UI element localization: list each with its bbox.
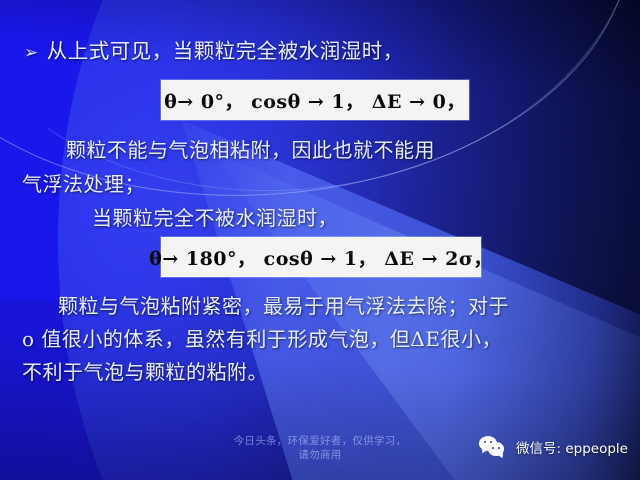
wechat-icon-dot-1 xyxy=(484,441,486,443)
formula-box-2: θ→ 180°， cosθ → 1， ΔE → 2σ， xyxy=(161,237,481,277)
body-line-7: 不利于气泡与颗粒的粘附。 xyxy=(22,356,268,385)
wechat-badge: 微信号: eppeople xyxy=(479,436,628,458)
formula-2-text: θ→ 180°， cosθ → 1， ΔE → 2σ， xyxy=(149,244,493,271)
wechat-icon xyxy=(479,436,509,458)
presentation-slide: ➢从上式可见，当颗粒完全被水润湿时， θ→ 0°， cosθ → 1， ΔE →… xyxy=(0,0,640,480)
body-line-5: 颗粒与气泡粘附紧密，最易于用气浮法去除；对于 xyxy=(58,290,509,319)
body-line-6: ο 值很小的体系，虽然有利于形成气泡，但ΔE很小， xyxy=(22,323,502,352)
body-line-4: 当颗粒完全不被水润湿时， xyxy=(92,202,338,231)
formula-box-1: θ→ 0°， cosθ → 1， ΔE → 0， xyxy=(161,80,469,120)
wechat-icon-bubble-b xyxy=(488,442,504,456)
bullet-line-1-text: 从上式可见，当颗粒完全被水润湿时， xyxy=(47,39,404,63)
wechat-id-label: 微信号: eppeople xyxy=(516,437,628,457)
slide-content: ➢从上式可见，当颗粒完全被水润湿时， θ→ 0°， cosθ → 1， ΔE →… xyxy=(0,0,640,480)
body-line-3: 气浮法处理； xyxy=(22,168,145,197)
formula-1-text: θ→ 0°， cosθ → 1， ΔE → 0， xyxy=(164,87,466,114)
arrow-bullet-icon: ➢ xyxy=(24,43,39,63)
body-line-2: 颗粒不能与气泡相粘附，因此也就不能用 xyxy=(66,134,435,163)
bullet-line-1: ➢从上式可见，当颗粒完全被水润湿时， xyxy=(24,34,404,64)
